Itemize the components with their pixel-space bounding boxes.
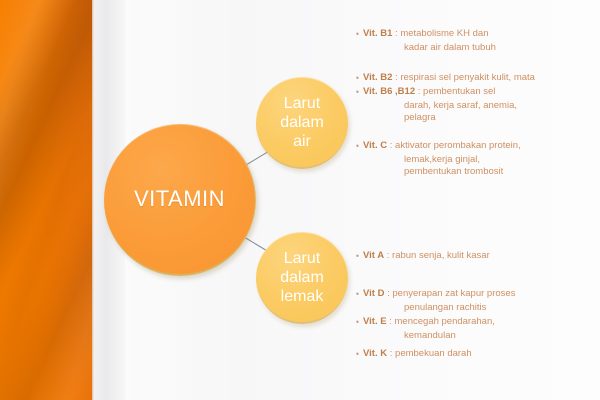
item-continuation: pelagra (352, 112, 600, 125)
item-continuation: lemak,kerja ginjal, (352, 154, 600, 167)
item-separator: : (418, 86, 421, 97)
list-item: • Vit. E : mencegah pendarahan, kemandul… (352, 316, 600, 342)
item-text: Vit. B2 : respirasi sel penyakit kulit, … (363, 72, 600, 85)
item-label: Vit. E (363, 316, 387, 327)
item-label: Vit. C (363, 140, 387, 151)
left-orange-band (0, 0, 92, 400)
item-label: Vit. B6 ,B12 (363, 86, 415, 97)
bullet-icon: • (352, 72, 363, 84)
item-continuation: pembentukan trombosit (352, 166, 600, 179)
item-description: mencegah pendarahan, (395, 316, 495, 327)
list-item: • Vit D : penyerapan zat kapur proses pe… (352, 288, 600, 314)
item-description: metabolisme KH dan (400, 28, 488, 39)
bullet-icon: • (352, 316, 363, 328)
node-water-soluble-label: Larut dalam air (276, 94, 328, 151)
item-continuation: penulangan rachitis (352, 302, 600, 315)
label-line-3: lemak (281, 288, 324, 305)
item-text: Vit. C : aktivator perombakan protein, (363, 140, 600, 153)
item-label: Vit. B2 (363, 72, 392, 83)
label-line-3: air (293, 133, 311, 150)
node-vitamin-center[interactable]: VITAMIN (104, 124, 256, 276)
bullet-icon: • (352, 288, 363, 300)
label-line-2: dalam (280, 114, 324, 131)
label-line-1: Larut (284, 95, 320, 112)
node-fat-soluble-label: Larut dalam lemak (276, 249, 328, 306)
item-continuation: kemandulan (352, 330, 600, 343)
item-text: Vit A : rabun senja, kulit kasar (363, 250, 600, 263)
list-item: • Vit. B2 : respirasi sel penyakit kulit… (352, 72, 600, 86)
item-description: pembentukan sel (423, 86, 495, 97)
item-description: aktivator perombakan protein, (395, 140, 521, 151)
bullet-icon: • (352, 86, 363, 98)
node-vitamin-label: VITAMIN (130, 186, 229, 212)
item-label: Vit. B1 (363, 28, 392, 39)
item-continuation: kadar air dalam tubuh (352, 42, 600, 55)
bullet-icon: • (352, 28, 363, 40)
item-text: Vit. B1 : metabolisme KH dan (363, 28, 600, 41)
node-fat-soluble[interactable]: Larut dalam lemak (256, 232, 348, 324)
item-label: Vit D (363, 288, 384, 299)
item-description: rabun senja, kulit kasar (392, 250, 490, 261)
item-text: Vit D : penyerapan zat kapur proses (363, 288, 600, 301)
item-text: Vit. B6 ,B12 : pembentukan sel (363, 86, 600, 99)
list-item: • Vit A : rabun senja, kulit kasar (352, 250, 600, 264)
bullet-icon: • (352, 140, 363, 152)
slide-canvas: VITAMIN Larut dalam air Larut dalam lema… (0, 0, 600, 400)
item-separator: : (395, 72, 398, 83)
vitamin-description-column: • Vit. B1 : metabolisme KH dan kadar air… (352, 0, 600, 400)
item-separator: : (395, 28, 398, 39)
label-line-1: Larut (284, 250, 320, 267)
item-text: Vit. E : mencegah pendarahan, (363, 316, 600, 329)
item-separator: : (387, 288, 390, 299)
list-item: • Vit. C : aktivator perombakan protein,… (352, 140, 600, 179)
item-description: respirasi sel penyakit kulit, mata (400, 72, 535, 83)
item-separator: : (389, 316, 392, 327)
bullet-icon: • (352, 348, 363, 360)
item-label: Vit A (363, 250, 384, 261)
list-item: • Vit. B6 ,B12 : pembentukan sel darah, … (352, 86, 600, 125)
item-separator: : (390, 348, 393, 359)
item-description: penyerapan zat kapur proses (392, 288, 515, 299)
item-continuation: darah, kerja saraf, anemia, (352, 100, 600, 113)
item-text: Vit. K : pembekuan darah (363, 348, 600, 361)
band-streak-overlay (0, 0, 92, 400)
bullet-icon: • (352, 250, 363, 262)
list-item: • Vit. B1 : metabolisme KH dan kadar air… (352, 28, 600, 54)
item-separator: : (390, 140, 393, 151)
node-water-soluble[interactable]: Larut dalam air (256, 77, 348, 169)
label-line-2: dalam (280, 269, 324, 286)
item-label: Vit. K (363, 348, 387, 359)
list-item: • Vit. K : pembekuan darah (352, 348, 600, 362)
item-separator: : (387, 250, 390, 261)
item-description: pembekuan darah (395, 348, 472, 359)
